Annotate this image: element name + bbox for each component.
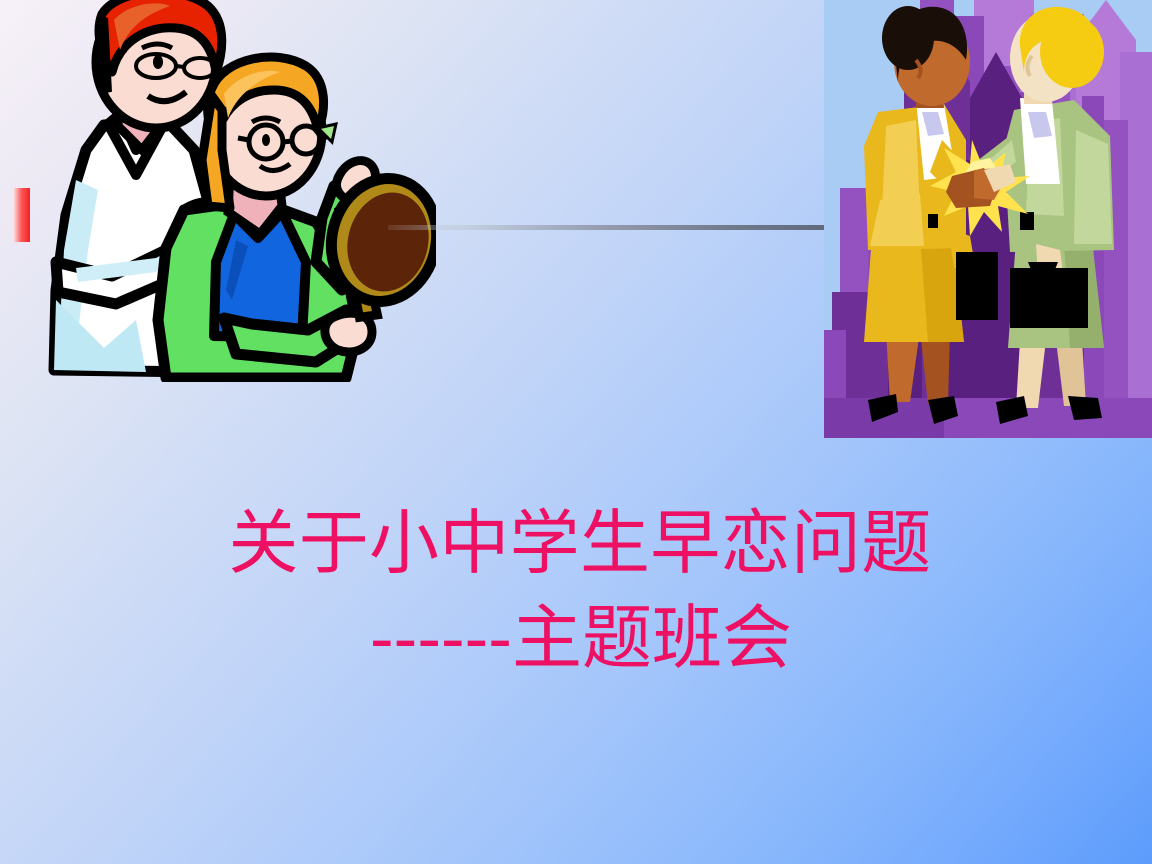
clipart-mother-and-teen-girl-with-mirror bbox=[16, 0, 436, 382]
left-clipart-svg bbox=[16, 0, 436, 382]
page-title: 关于小中学生早恋问题 bbox=[0, 496, 1152, 591]
woman-glasses-bridge bbox=[176, 66, 184, 67]
girl-eye bbox=[262, 134, 270, 146]
clipart-two-businesswomen-handshake-city bbox=[824, 0, 1152, 438]
yellow-briefcase-handle bbox=[962, 252, 992, 262]
yellow-briefcase bbox=[956, 252, 998, 320]
page-subtitle: ------主题班会 bbox=[0, 591, 1152, 686]
green-jacket-panel bbox=[1074, 130, 1112, 244]
horizontal-rule bbox=[388, 225, 828, 230]
green-jacket-button bbox=[1020, 212, 1034, 230]
green-briefcase-handle bbox=[1028, 262, 1058, 272]
girl-hair-bun bbox=[202, 96, 230, 208]
woman-eye bbox=[153, 55, 163, 69]
yellow-jacket-button bbox=[928, 214, 938, 228]
presentation-slide: 关于小中学生早恋问题 ------主题班会 bbox=[0, 0, 1152, 864]
green-hair-bob bbox=[1040, 16, 1104, 88]
red-accent-bar bbox=[14, 188, 30, 242]
yellow-hair-back bbox=[882, 6, 934, 70]
woman-hair-sideburn bbox=[100, 18, 108, 92]
slide-title-block: 关于小中学生早恋问题 ------主题班会 bbox=[0, 496, 1152, 686]
girl-glasses-bridge bbox=[283, 141, 292, 142]
right-clipart-svg bbox=[824, 0, 1152, 438]
green-briefcase bbox=[1010, 268, 1088, 328]
